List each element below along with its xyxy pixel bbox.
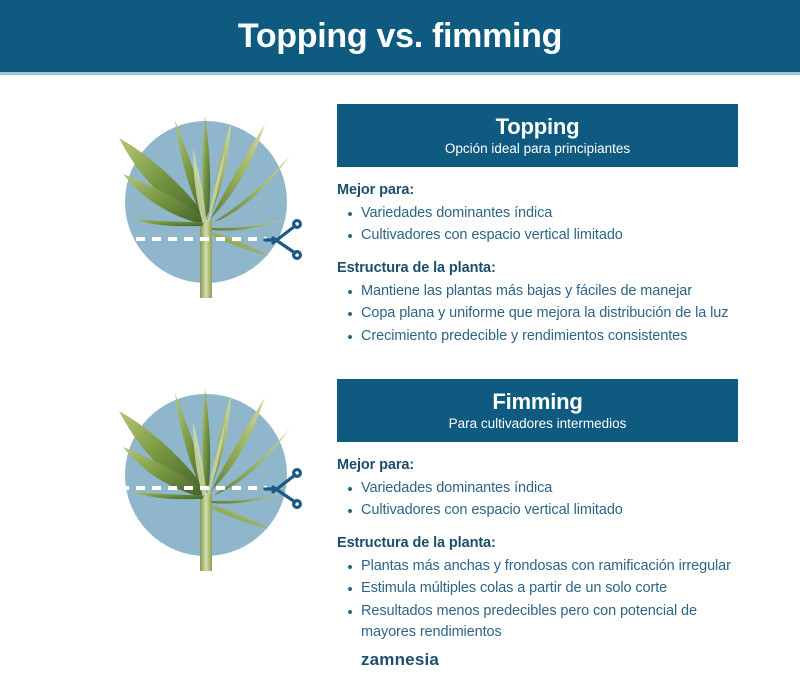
bullet-list: Variedades dominantes índica Cultivadore… [337,478,738,522]
panel-topping-subtitle: Opción ideal para principiantes [445,141,630,158]
list-item: Cultivadores con espacio vertical limita… [337,500,738,521]
list-item: Copa plana y uniforme que mejora la dist… [337,303,738,324]
main-content: Topping Opción ideal para principiantes … [0,75,800,691]
section-mejor-para-fimming: Mejor para: Variedades dominantes índica… [337,456,738,521]
plant-stem [200,220,212,298]
panel-topping: Topping Opción ideal para principiantes … [337,104,738,349]
page-header: Topping vs. fimming [0,0,800,72]
panel-fimming-subtitle: Para cultivadores intermedios [449,416,627,433]
bullet-list: Variedades dominantes índica Cultivadore… [337,203,738,247]
list-item: Plantas más anchas y frondosas con ramif… [337,556,738,577]
bullet-list: Mantiene las plantas más bajas y fáciles… [337,281,738,347]
section-mejor-para-topping: Mejor para: Variedades dominantes índica… [337,181,738,246]
bullet-list: Plantas más anchas y frondosas con ramif… [337,556,738,644]
section-title: Mejor para: [337,456,738,476]
panel-fimming-title: Fimming [492,390,582,415]
footer: zamnesia [0,650,800,670]
panel-fimming-body: Mejor para: Variedades dominantes índica… [337,442,738,644]
fimming-plant-illustration [105,375,305,575]
section-estructura-topping: Estructura de la planta: Mantiene las pl… [337,259,738,347]
list-item: Variedades dominantes índica [337,203,738,224]
topping-plant-illustration [105,102,305,302]
list-item: Resultados menos predecibles pero con po… [337,601,738,644]
list-item: Variedades dominantes índica [337,478,738,499]
zamnesia-logo: zamnesia [361,650,439,669]
section-title: Estructura de la planta: [337,259,738,279]
panel-fimming-header: Fimming Para cultivadores intermedios [337,379,738,442]
panel-topping-title: Topping [496,115,580,140]
plant-stem [200,493,212,571]
panel-fimming: Fimming Para cultivadores intermedios Me… [337,379,738,646]
list-item: Crecimiento predecible y rendimientos co… [337,326,738,347]
section-title: Mejor para: [337,181,738,201]
panel-topping-header: Topping Opción ideal para principiantes [337,104,738,167]
list-item: Mantiene las plantas más bajas y fáciles… [337,281,738,302]
panel-topping-body: Mejor para: Variedades dominantes índica… [337,167,738,347]
section-estructura-fimming: Estructura de la planta: Plantas más anc… [337,534,738,643]
page-title: Topping vs. fimming [238,19,562,53]
list-item: Cultivadores con espacio vertical limita… [337,225,738,246]
section-title: Estructura de la planta: [337,534,738,554]
list-item: Estimula múltiples colas a partir de un … [337,578,738,599]
